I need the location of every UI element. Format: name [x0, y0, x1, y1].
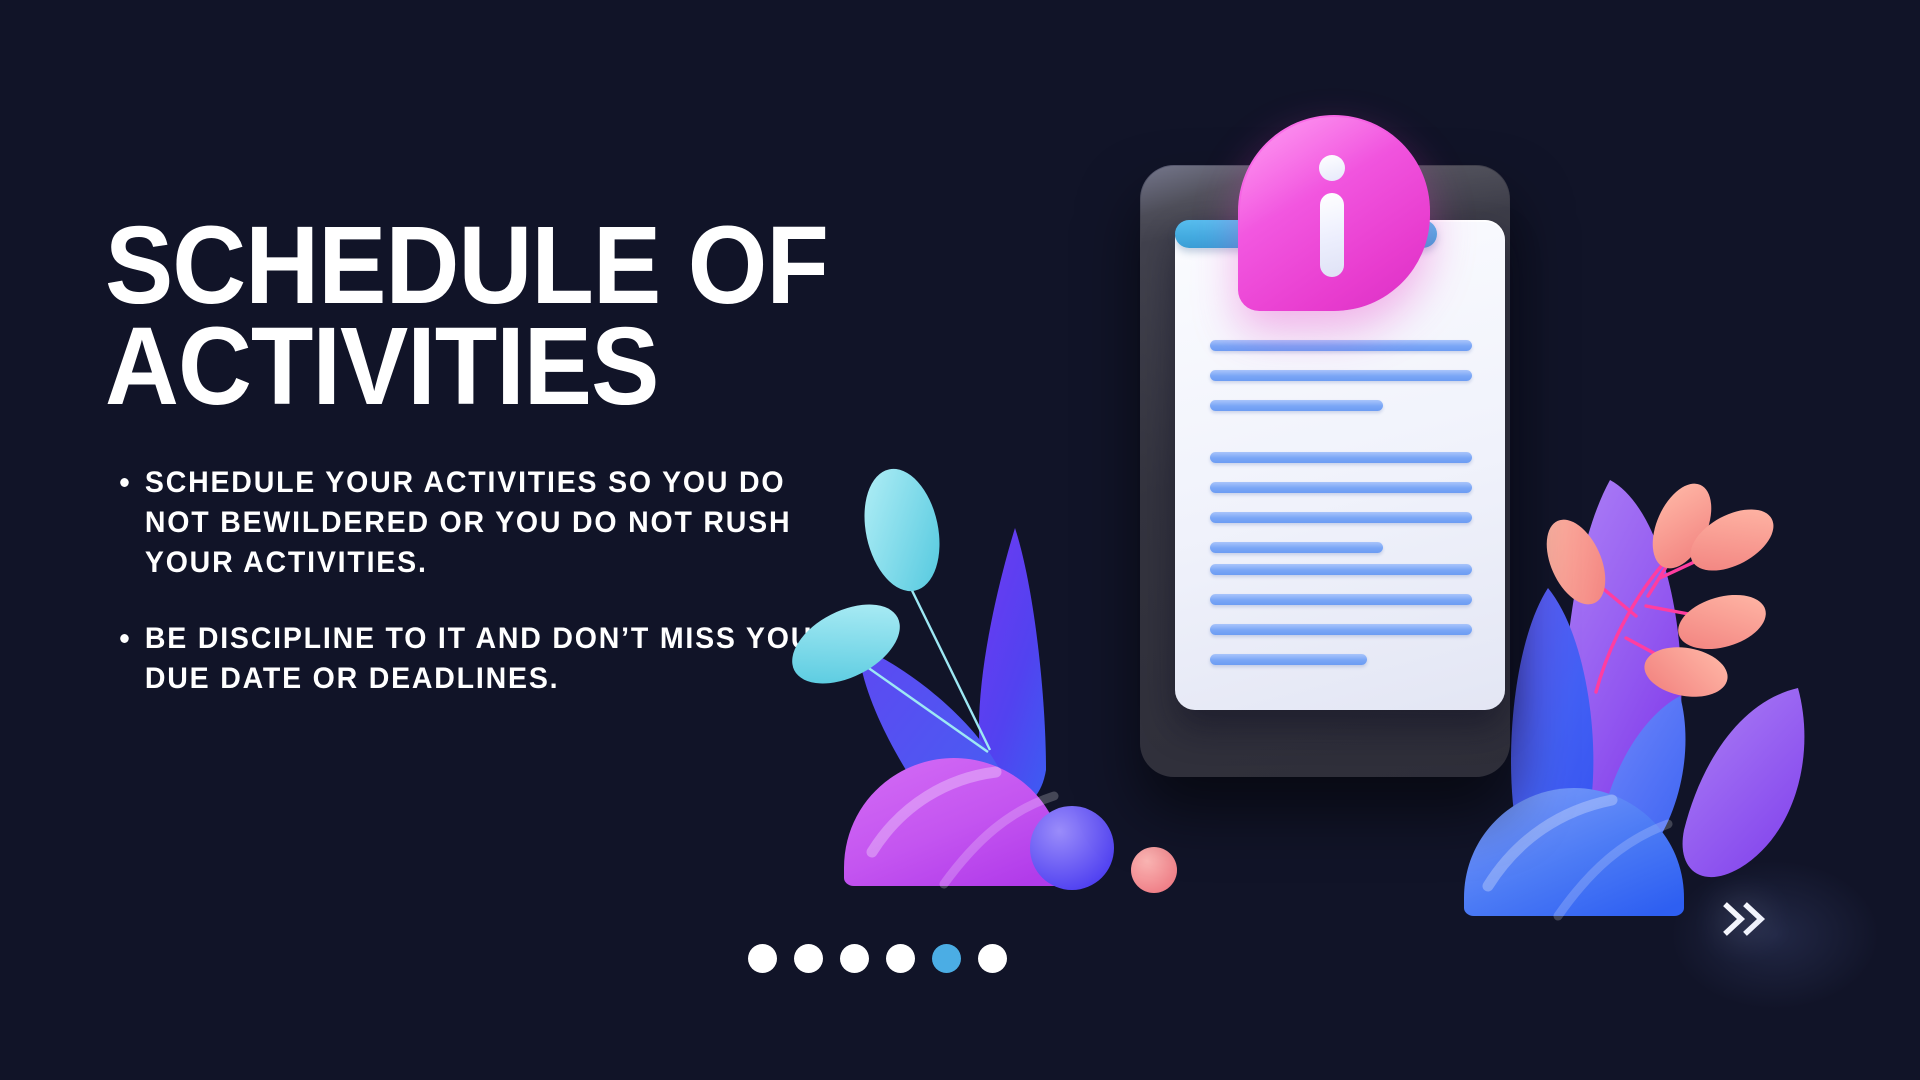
- paper-line: [1210, 400, 1383, 411]
- pagination-dot-6[interactable]: [978, 944, 1007, 973]
- paper-line: [1210, 594, 1472, 605]
- pagination-dot-2[interactable]: [794, 944, 823, 973]
- text-column: SCHEDULE OF ACTIVITIES SCHEDULE YOUR ACT…: [105, 215, 885, 699]
- foliage-right: [1470, 400, 1920, 930]
- pagination-dot-4[interactable]: [886, 944, 915, 973]
- paper-line-group-1: [1210, 340, 1472, 411]
- info-icon-dot: [1319, 155, 1345, 181]
- paper-line: [1210, 624, 1472, 635]
- info-icon-stem: [1320, 193, 1344, 277]
- paper-line-group-3: [1210, 564, 1472, 665]
- pagination-dot-3[interactable]: [840, 944, 869, 973]
- sphere-purple: [1030, 806, 1114, 890]
- slide-root: SCHEDULE OF ACTIVITIES SCHEDULE YOUR ACT…: [0, 0, 1920, 1080]
- paper-line-group-2: [1210, 452, 1472, 553]
- paper-line: [1210, 542, 1383, 553]
- illustration: [980, 100, 1920, 940]
- bullet-item-1: SCHEDULE YOUR ACTIVITIES SO YOU DO NOT B…: [105, 463, 846, 583]
- leaf-cyan-1: [854, 462, 950, 598]
- paper-line: [1210, 564, 1472, 575]
- paper-line: [1210, 512, 1472, 523]
- paper-line: [1210, 482, 1472, 493]
- pagination-dot-5[interactable]: [932, 944, 961, 973]
- leaf-purple-low: [1683, 688, 1805, 877]
- pagination-dots: [748, 944, 1007, 973]
- paper-line: [1210, 452, 1472, 463]
- paper-line: [1210, 370, 1472, 381]
- petal-4: [1672, 586, 1772, 659]
- bullet-list: SCHEDULE YOUR ACTIVITIES SO YOU DO NOT B…: [105, 463, 885, 698]
- paper-line: [1210, 340, 1472, 351]
- sphere-pink: [1131, 847, 1177, 893]
- paper-line: [1210, 654, 1367, 665]
- info-badge[interactable]: [1238, 115, 1430, 311]
- pagination-dot-1[interactable]: [748, 944, 777, 973]
- bullet-item-2: BE DISCIPLINE TO IT AND DON’T MISS YOUR …: [105, 619, 846, 699]
- page-title: SCHEDULE OF ACTIVITIES: [105, 215, 830, 417]
